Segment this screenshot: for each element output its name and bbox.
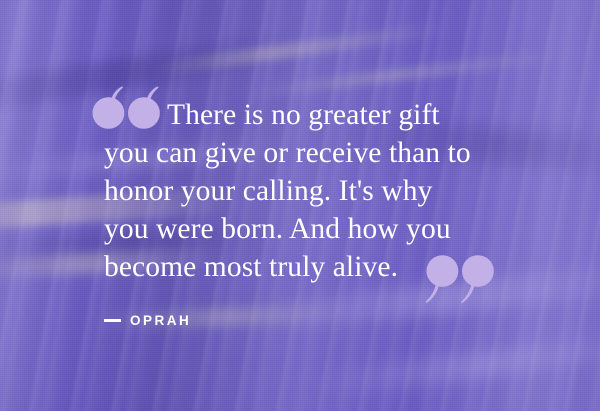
quote-line: honor your calling. It's why — [104, 172, 534, 210]
quote-content: There is no greater gift you can give or… — [0, 0, 600, 411]
close-double-quote-icon — [423, 250, 497, 306]
attribution-dash-icon — [104, 319, 121, 322]
quote-line: you can give or receive than to — [104, 134, 534, 172]
quote-line: you were born. And how you — [104, 210, 534, 248]
attribution-name: OPRAH — [130, 313, 191, 328]
quote-card: There is no greater gift you can give or… — [0, 0, 600, 411]
attribution: OPRAH — [104, 313, 191, 328]
quote-line: There is no greater gift — [104, 96, 534, 134]
